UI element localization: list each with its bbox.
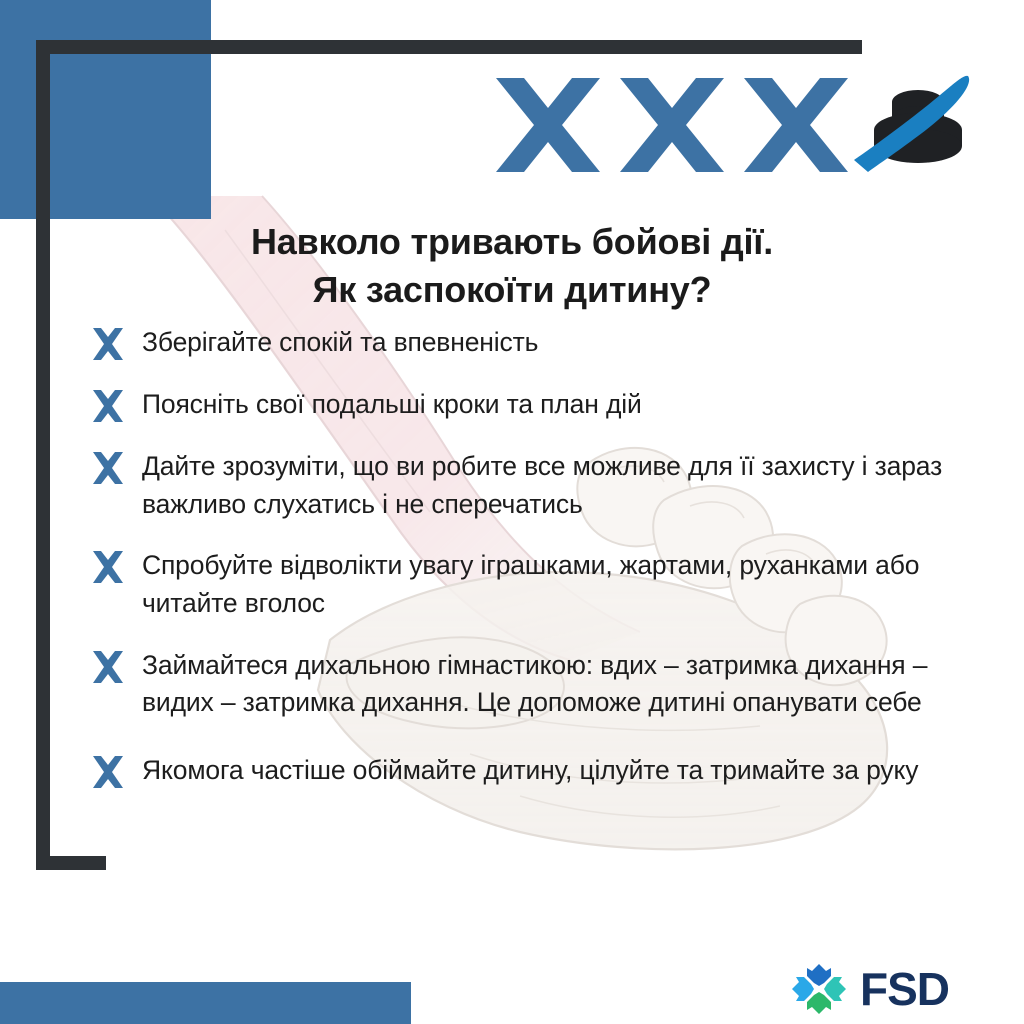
decor-block-bottom-left <box>0 982 411 1024</box>
list-item: Спробуйте відволікти увагу іграшками, жа… <box>90 547 990 622</box>
frame-bottom-stub <box>36 856 106 870</box>
cross-bullet-icon <box>90 450 126 486</box>
title-line-2: Як заспокоїти дитину? <box>62 266 962 314</box>
title-line-1: Навколо тривають бойові дії. <box>62 218 962 266</box>
cross-icon-2 <box>620 78 724 172</box>
fsd-wordmark: FSD <box>860 966 949 1012</box>
cross-bullet-icon <box>90 649 126 685</box>
page-title: Навколо тривають бойові дії. Як заспокої… <box>62 218 962 314</box>
list-item: Дайте зрозуміти, що ви робите все можлив… <box>90 448 990 523</box>
infographic-canvas: Навколо тривають бойові дії. Як заспокої… <box>0 0 1024 1024</box>
list-item-text: Зберігайте спокій та впевненість <box>142 324 538 362</box>
list-item: Поясніть свої подальші кроки та план дій <box>90 386 990 424</box>
cross-icon-1 <box>496 78 600 172</box>
cross-bullet-icon <box>90 326 126 362</box>
list-item-text: Займайтеся дихальною гімнастикою: вдих –… <box>142 647 987 722</box>
frame-top-bar <box>36 40 862 54</box>
frame-left-bar <box>36 40 50 870</box>
cross-icon-3 <box>744 78 848 172</box>
tips-list: Зберігайте спокій та впевненість Поясніт… <box>90 324 990 804</box>
decor-block-top-left <box>0 0 211 219</box>
list-item-text: Спробуйте відволікти увагу іграшками, жа… <box>142 547 987 622</box>
cross-bullet-icon <box>90 754 126 790</box>
list-item-text: Поясніть свої подальші кроки та план дій <box>142 386 642 424</box>
list-item-text: Дайте зрозуміти, що ви робите все можлив… <box>142 448 987 523</box>
fsd-clover-icon <box>790 962 848 1016</box>
cross-bullet-icon <box>90 388 126 424</box>
fsd-logo: FSD <box>790 960 990 1018</box>
list-item: Зберігайте спокій та впевненість <box>90 324 990 362</box>
list-item: Якомога частіше обіймайте дитину, цілуйт… <box>90 752 990 790</box>
cross-bullet-icon <box>90 549 126 585</box>
organisation-logo-header <box>486 72 976 178</box>
list-item-text: Якомога частіше обіймайте дитину, цілуйт… <box>142 752 918 790</box>
list-item: Займайтеся дихальною гімнастикою: вдих –… <box>90 647 990 722</box>
